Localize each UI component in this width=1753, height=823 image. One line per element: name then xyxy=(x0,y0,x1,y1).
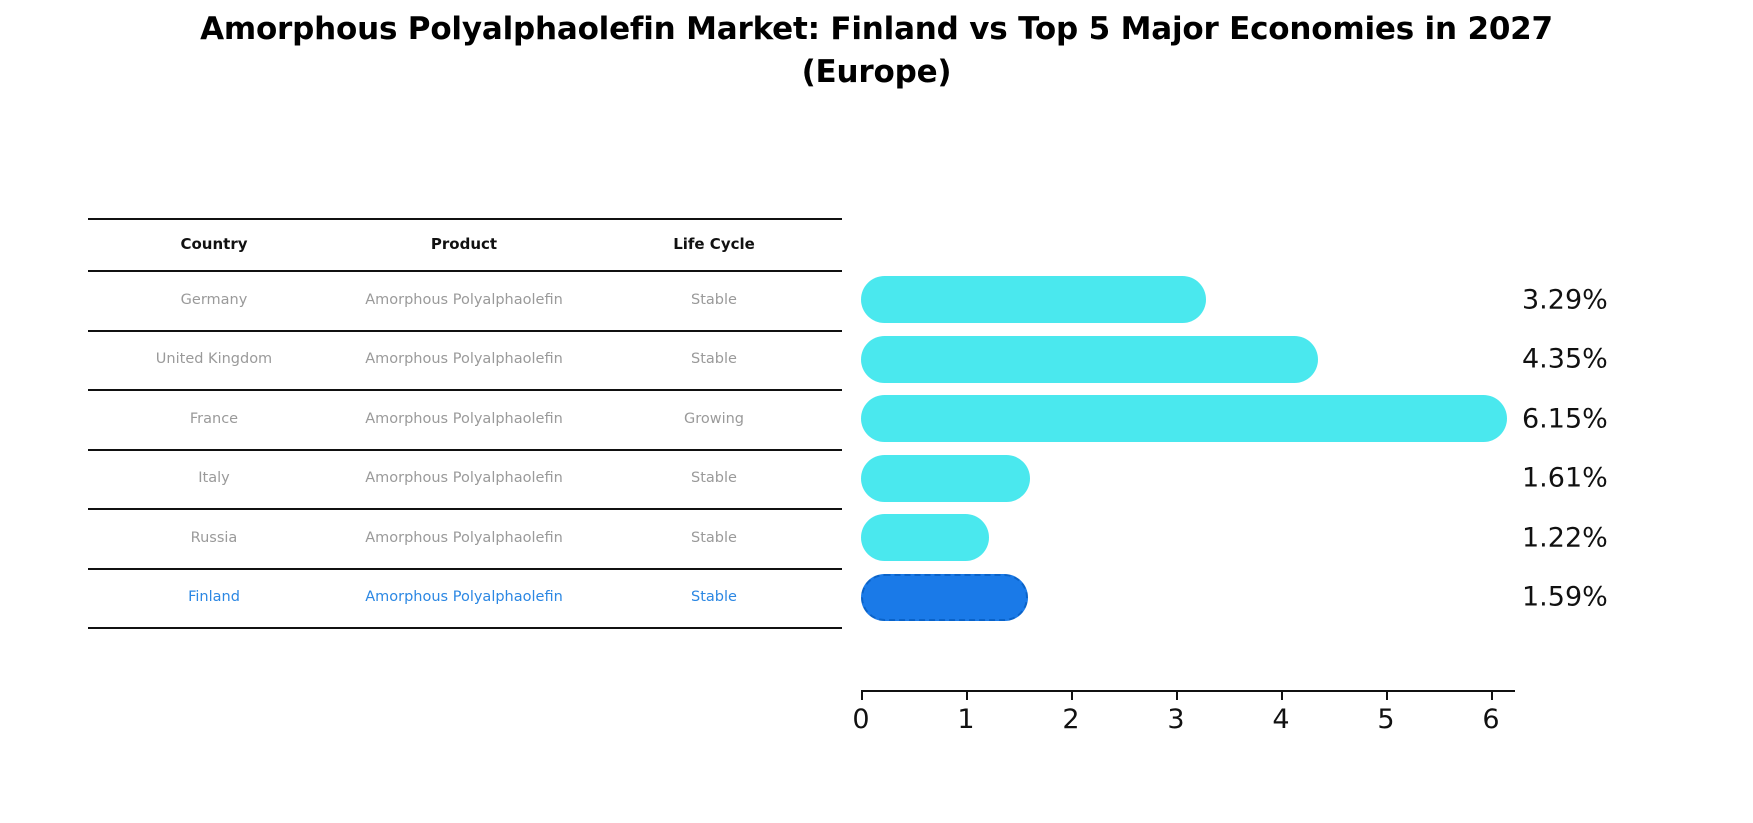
table-cell-life-cycle: Stable xyxy=(691,292,737,308)
table-cell-product: Amorphous Polyalphaolefin xyxy=(365,351,563,367)
table-cell-life-cycle: Stable xyxy=(691,351,737,367)
bar-highlighted[interactable] xyxy=(861,574,1028,621)
table-cell-life-cycle: Stable xyxy=(691,530,737,546)
x-tick-mark xyxy=(1071,692,1073,700)
table-cell-life-cycle: Stable xyxy=(691,589,737,605)
bar[interactable] xyxy=(861,514,989,561)
table-row-rule xyxy=(88,449,842,451)
table-row-rule xyxy=(88,389,842,391)
table-row-rule xyxy=(88,627,842,629)
table-cell-product: Amorphous Polyalphaolefin xyxy=(365,411,563,427)
table-cell-life-cycle: Stable xyxy=(691,470,737,486)
bar[interactable] xyxy=(861,455,1030,502)
bar-chart-plot: 3.29%4.35%6.15%1.61%1.22%1.59% xyxy=(861,218,1561,698)
bar[interactable] xyxy=(861,336,1318,383)
chart-title-line-2: (Europe) xyxy=(0,51,1753,94)
x-tick-label: 2 xyxy=(1062,704,1079,735)
table-row-rule xyxy=(88,568,842,570)
table-cell-product: Amorphous Polyalphaolefin xyxy=(365,292,563,308)
table-cell-country: Italy xyxy=(198,470,229,486)
table-cell-product: Amorphous Polyalphaolefin xyxy=(365,589,563,605)
bar-value-label: 1.61% xyxy=(1522,463,1608,494)
table-header-country: Country xyxy=(180,235,247,253)
chart-title-line-1: Amorphous Polyalphaolefin Market: Finlan… xyxy=(200,11,1553,47)
x-tick-mark xyxy=(1176,692,1178,700)
table-cell-country: Russia xyxy=(191,530,238,546)
x-tick-label: 0 xyxy=(852,704,869,735)
x-tick-label: 3 xyxy=(1167,704,1184,735)
bar[interactable] xyxy=(861,395,1507,442)
chart-title: Amorphous Polyalphaolefin Market: Finlan… xyxy=(0,8,1753,94)
x-tick-label: 5 xyxy=(1377,704,1394,735)
bar-value-label: 4.35% xyxy=(1522,344,1608,375)
table-cell-product: Amorphous Polyalphaolefin xyxy=(365,530,563,546)
x-axis: 0123456 xyxy=(861,690,1515,692)
table-cell-country: United Kingdom xyxy=(156,351,272,367)
table-rule-header xyxy=(88,270,842,272)
country-table: CountryProductLife CycleGermanyAmorphous… xyxy=(88,218,842,628)
table-rule-top xyxy=(88,218,842,220)
x-tick-label: 6 xyxy=(1482,704,1499,735)
table-header-life-cycle: Life Cycle xyxy=(673,235,755,253)
x-tick-mark xyxy=(1386,692,1388,700)
x-tick-mark xyxy=(1491,692,1493,700)
x-tick-label: 4 xyxy=(1272,704,1289,735)
x-tick-mark xyxy=(1281,692,1283,700)
table-row-rule xyxy=(88,508,842,510)
table-cell-country: Germany xyxy=(181,292,248,308)
table-cell-life-cycle: Growing xyxy=(684,411,744,427)
bar-value-label: 1.59% xyxy=(1522,582,1608,613)
bar[interactable] xyxy=(861,276,1206,323)
table-cell-product: Amorphous Polyalphaolefin xyxy=(365,470,563,486)
bar-value-label: 1.22% xyxy=(1522,522,1608,553)
table-cell-country: Finland xyxy=(188,589,240,605)
bar-value-label: 6.15% xyxy=(1522,403,1608,434)
table-cell-country: France xyxy=(190,411,238,427)
table-row-rule xyxy=(88,330,842,332)
x-tick-mark xyxy=(966,692,968,700)
bar-value-label: 3.29% xyxy=(1522,284,1608,315)
x-tick-label: 1 xyxy=(957,704,974,735)
table-header-product: Product xyxy=(431,235,497,253)
x-tick-mark xyxy=(861,692,863,700)
